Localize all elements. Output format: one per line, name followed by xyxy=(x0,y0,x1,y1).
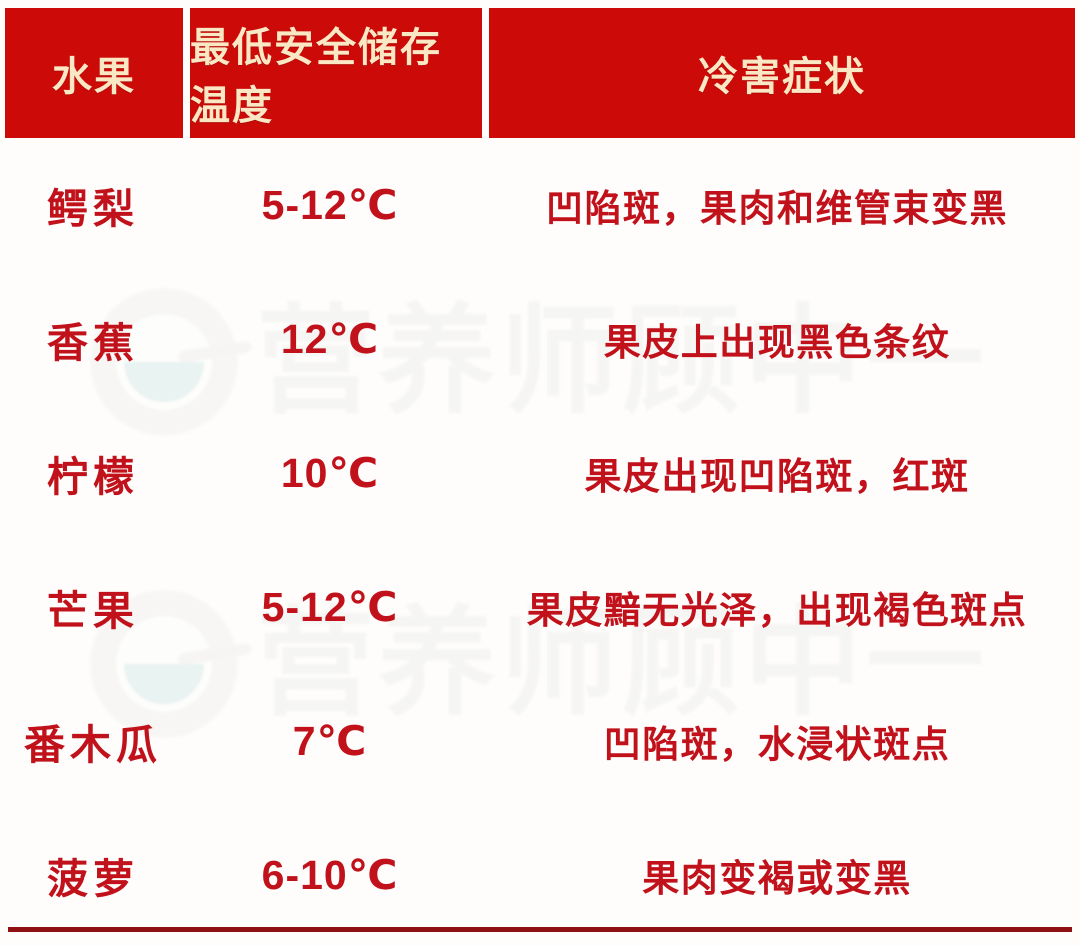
cell-symptom: 果皮出现凹陷斑，红斑 xyxy=(474,446,1080,500)
table-row: 芒果 5-12℃ 果皮黯无光泽，出现褐色斑点 xyxy=(0,540,1080,674)
cell-symptom: 凹陷斑，水浸状斑点 xyxy=(474,714,1080,768)
cell-temperature: 10℃ xyxy=(186,449,474,497)
column-header-temperature: 最低安全储存温度 xyxy=(190,8,482,138)
table-header-row: 水果 最低安全储存温度 冷害症状 xyxy=(0,8,1080,138)
cell-fruit: 鳄梨 xyxy=(0,175,186,235)
cell-temperature: 5-12℃ xyxy=(186,583,474,631)
table-row: 菠萝 6-10℃ 果肉变褐或变黑 xyxy=(0,808,1080,942)
cell-symptom: 凹陷斑，果肉和维管束变黑 xyxy=(474,178,1080,232)
cell-temperature: 6-10℃ xyxy=(186,851,474,899)
table-row: 鳄梨 5-12℃ 凹陷斑，果肉和维管束变黑 xyxy=(0,138,1080,272)
cell-symptom: 果肉变褐或变黑 xyxy=(474,848,1080,902)
cell-fruit: 香蕉 xyxy=(0,309,186,369)
table-row: 柠檬 10℃ 果皮出现凹陷斑，红斑 xyxy=(0,406,1080,540)
table-body: 鳄梨 5-12℃ 凹陷斑，果肉和维管束变黑 香蕉 12℃ 果皮上出现黑色条纹 柠… xyxy=(0,138,1080,942)
cell-symptom: 果皮黯无光泽，出现褐色斑点 xyxy=(474,580,1080,634)
cell-temperature: 12℃ xyxy=(186,315,474,363)
cell-fruit: 菠萝 xyxy=(0,845,186,905)
table-sheet: 营养师顾中一 营养师顾中一 水果 最低安全储存温度 冷害症状 鳄梨 5-12℃ … xyxy=(0,0,1080,946)
table-row: 番木瓜 7℃ 凹陷斑，水浸状斑点 xyxy=(0,674,1080,808)
cell-temperature: 7℃ xyxy=(186,717,474,765)
cell-symptom: 果皮上出现黑色条纹 xyxy=(474,312,1080,366)
cell-temperature: 5-12℃ xyxy=(186,181,474,229)
cell-fruit: 柠檬 xyxy=(0,443,186,503)
footer-divider xyxy=(8,927,1072,932)
table-row: 香蕉 12℃ 果皮上出现黑色条纹 xyxy=(0,272,1080,406)
cell-fruit: 番木瓜 xyxy=(0,711,186,771)
cell-fruit: 芒果 xyxy=(0,577,186,637)
column-header-fruit: 水果 xyxy=(5,8,183,138)
fruit-chilling-injury-table: 水果 最低安全储存温度 冷害症状 鳄梨 5-12℃ 凹陷斑，果肉和维管束变黑 香… xyxy=(0,8,1080,942)
column-header-symptom: 冷害症状 xyxy=(489,8,1075,138)
